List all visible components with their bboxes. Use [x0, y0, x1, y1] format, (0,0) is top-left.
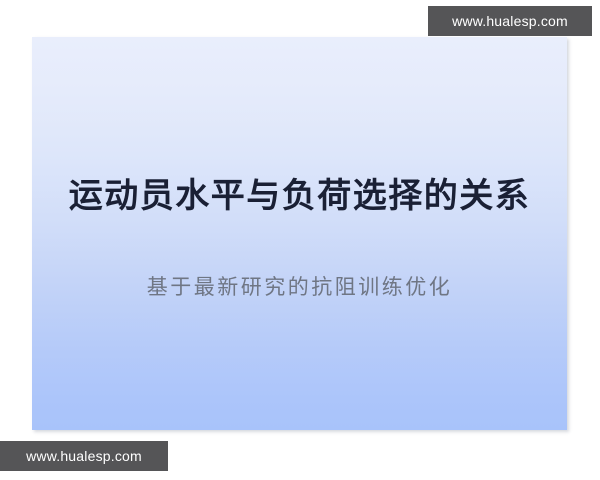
slide-subtitle: 基于最新研究的抗阻训练优化	[32, 276, 567, 300]
slide-text-block: 运动员水平与负荷选择的关系 基于最新研究的抗阻训练优化	[32, 177, 567, 300]
watermark-bottom-left: www.hualesp.com	[0, 441, 168, 471]
slide-title: 运动员水平与负荷选择的关系	[32, 177, 567, 216]
presentation-slide[interactable]: 运动员水平与负荷选择的关系 基于最新研究的抗阻训练优化	[32, 37, 567, 430]
watermark-top-right: www.hualesp.com	[428, 6, 592, 36]
